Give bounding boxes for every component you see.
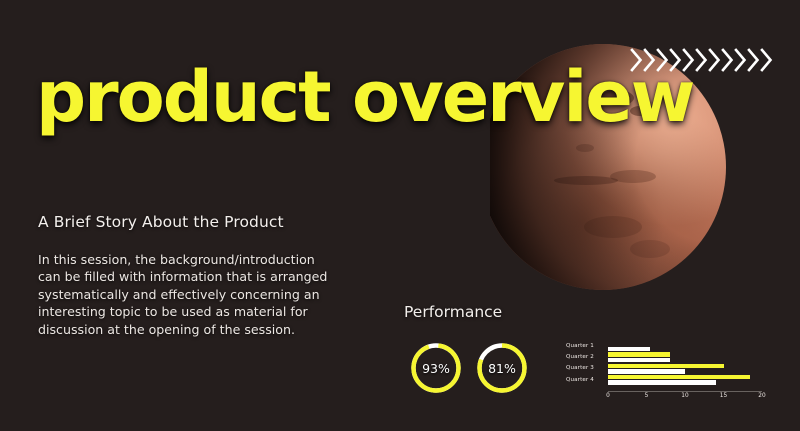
chart-bar bbox=[608, 358, 670, 363]
chevron-right-icon bbox=[721, 47, 734, 73]
subtitle: A Brief Story About the Product bbox=[38, 213, 284, 231]
page-title: product overview bbox=[36, 62, 693, 132]
chart-x-tick-label: 5 bbox=[645, 393, 649, 399]
chart-category-label: Quarter 3 bbox=[566, 363, 606, 374]
chart-bar-group bbox=[608, 352, 762, 363]
chart-bar bbox=[608, 375, 750, 380]
chart-row: Quarter 4 bbox=[566, 375, 762, 386]
quarterly-bar-chart: Quarter 1Quarter 2Quarter 3Quarter 4 051… bbox=[566, 341, 762, 407]
chart-bar bbox=[608, 369, 685, 374]
slide-canvas: product overview A Brief Story About the… bbox=[0, 0, 800, 431]
chart-x-tick-label: 0 bbox=[606, 393, 610, 399]
chart-x-axis: 05101520 bbox=[608, 391, 762, 405]
chart-x-tick-label: 20 bbox=[758, 393, 765, 399]
chart-row: Quarter 2 bbox=[566, 352, 762, 363]
chevron-right-icon bbox=[708, 47, 721, 73]
body-paragraph: In this session, the background/introduc… bbox=[38, 251, 338, 338]
gauge-93: 93% bbox=[409, 341, 463, 395]
chevron-right-icon bbox=[747, 47, 760, 73]
chart-x-tick-label: 15 bbox=[720, 393, 727, 399]
chevron-right-icon bbox=[734, 47, 747, 73]
chevron-right-icon bbox=[760, 47, 773, 73]
chart-x-tick-label: 10 bbox=[681, 393, 688, 399]
chart-bar bbox=[608, 347, 650, 352]
chart-category-label: Quarter 4 bbox=[566, 375, 606, 386]
chart-bar bbox=[608, 380, 716, 385]
chart-bar bbox=[608, 352, 670, 357]
axis-line bbox=[608, 391, 762, 392]
gauge-value-label: 93% bbox=[409, 341, 463, 395]
chart-bar bbox=[608, 364, 724, 369]
chart-row: Quarter 1 bbox=[566, 341, 762, 352]
chart-row: Quarter 3 bbox=[566, 363, 762, 374]
gauge-81: 81% bbox=[475, 341, 529, 395]
performance-heading: Performance bbox=[404, 303, 502, 321]
chart-bar-group bbox=[608, 375, 762, 386]
chart-category-label: Quarter 1 bbox=[566, 341, 606, 352]
gauge-value-label: 81% bbox=[475, 341, 529, 395]
chevron-right-icon bbox=[695, 47, 708, 73]
chart-bar-group bbox=[608, 363, 762, 374]
chart-category-label: Quarter 2 bbox=[566, 352, 606, 363]
chart-bar-group bbox=[608, 341, 762, 352]
